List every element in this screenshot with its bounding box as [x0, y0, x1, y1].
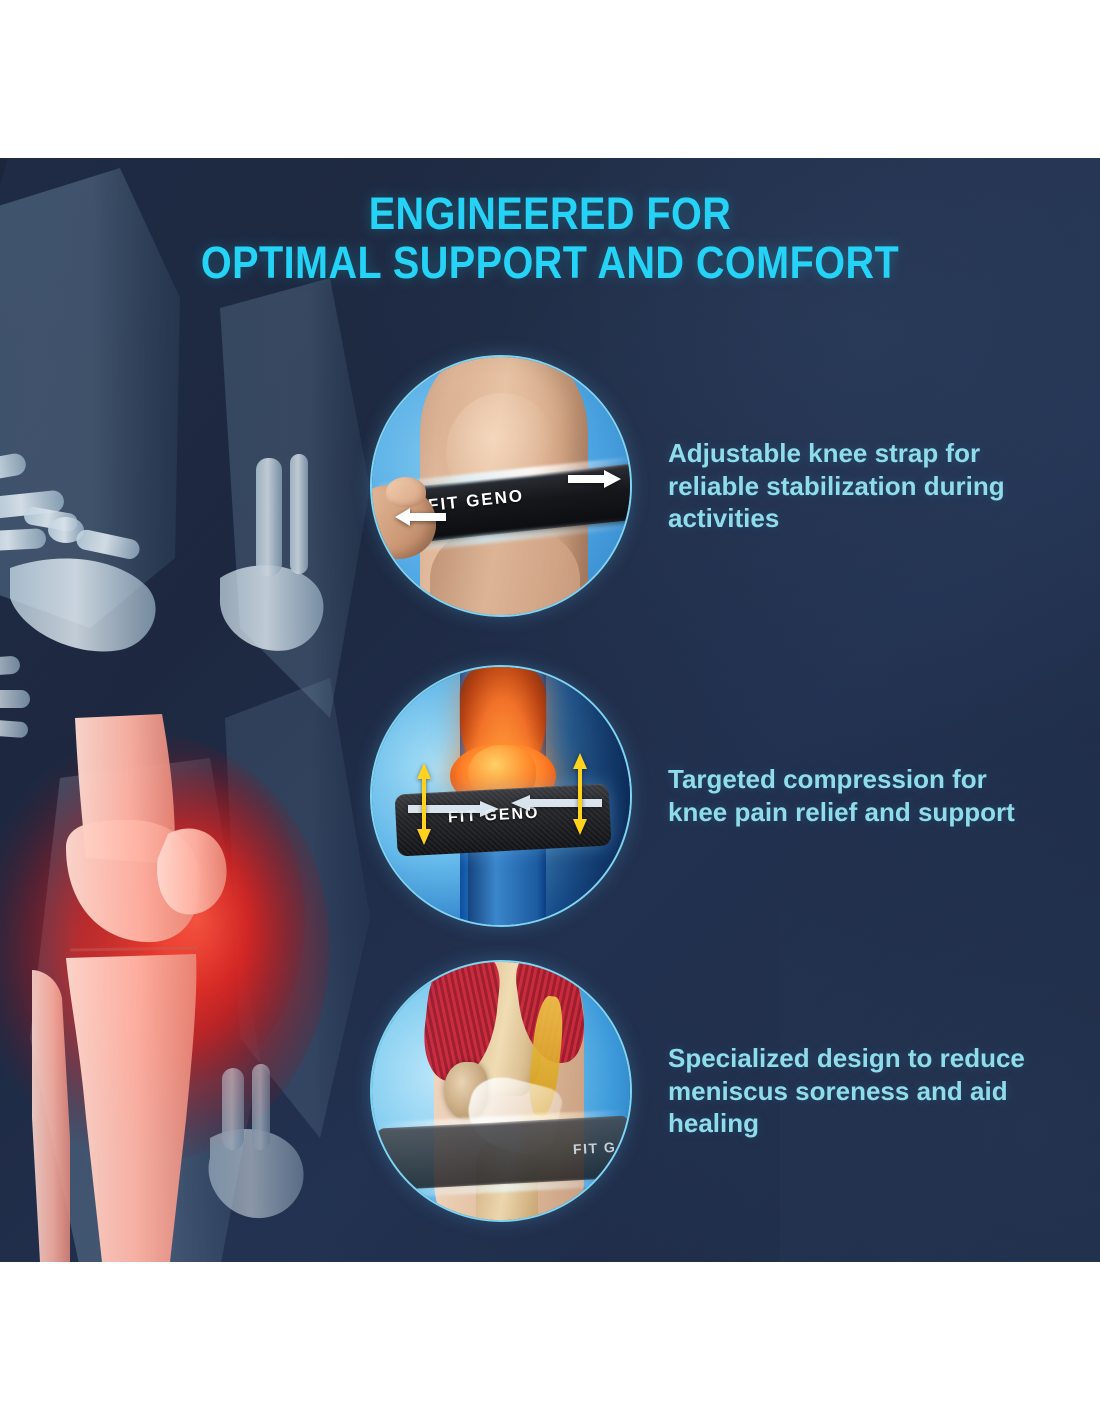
- compression-arrow-left-icon: [510, 795, 602, 811]
- circular-photo-frame: FIT GENO: [370, 665, 632, 927]
- arrow-left-icon: [394, 507, 446, 527]
- infographic-canvas: ENGINEERED FOR OPTIMAL SUPPORT AND COMFO…: [0, 158, 1100, 1262]
- feature-image-adjustable-strap: FIT GENO: [370, 355, 632, 617]
- brand-logo-text: FIT G: [572, 1139, 616, 1157]
- feature-row-adjustable-strap: FIT GENO: [0, 355, 1100, 617]
- feature-image-meniscus-relief: FIT G: [370, 960, 632, 1222]
- headline-line-1: ENGINEERED FOR: [66, 190, 1034, 239]
- feature-row-meniscus-relief: FIT G Specialized design to reduce menis…: [0, 960, 1100, 1222]
- thumb-shape: [386, 477, 426, 507]
- feature-caption: Specialized design to reduce meniscus so…: [668, 1042, 1048, 1140]
- feature-row-targeted-compression: FIT GENO: [0, 665, 1100, 927]
- page-title: ENGINEERED FOR OPTIMAL SUPPORT AND COMFO…: [0, 190, 1100, 287]
- arrow-right-icon: [568, 469, 622, 489]
- circular-photo-frame: FIT GENO: [370, 355, 632, 617]
- feature-caption: Adjustable knee strap for reliable stabi…: [668, 437, 1048, 535]
- circular-photo-frame: FIT G: [370, 960, 632, 1222]
- headline-line-2: OPTIMAL SUPPORT AND COMFORT: [66, 239, 1034, 288]
- infographic-page: ENGINEERED FOR OPTIMAL SUPPORT AND COMFO…: [0, 0, 1100, 1422]
- feature-caption: Targeted compression for knee pain relie…: [668, 763, 1048, 829]
- top-white-band: [0, 0, 1100, 158]
- stretch-arrow-left-icon: [416, 763, 432, 845]
- bottom-white-band: [0, 1262, 1100, 1422]
- stretch-arrow-right-icon: [572, 753, 588, 835]
- feature-image-targeted-compression: FIT GENO: [370, 665, 632, 927]
